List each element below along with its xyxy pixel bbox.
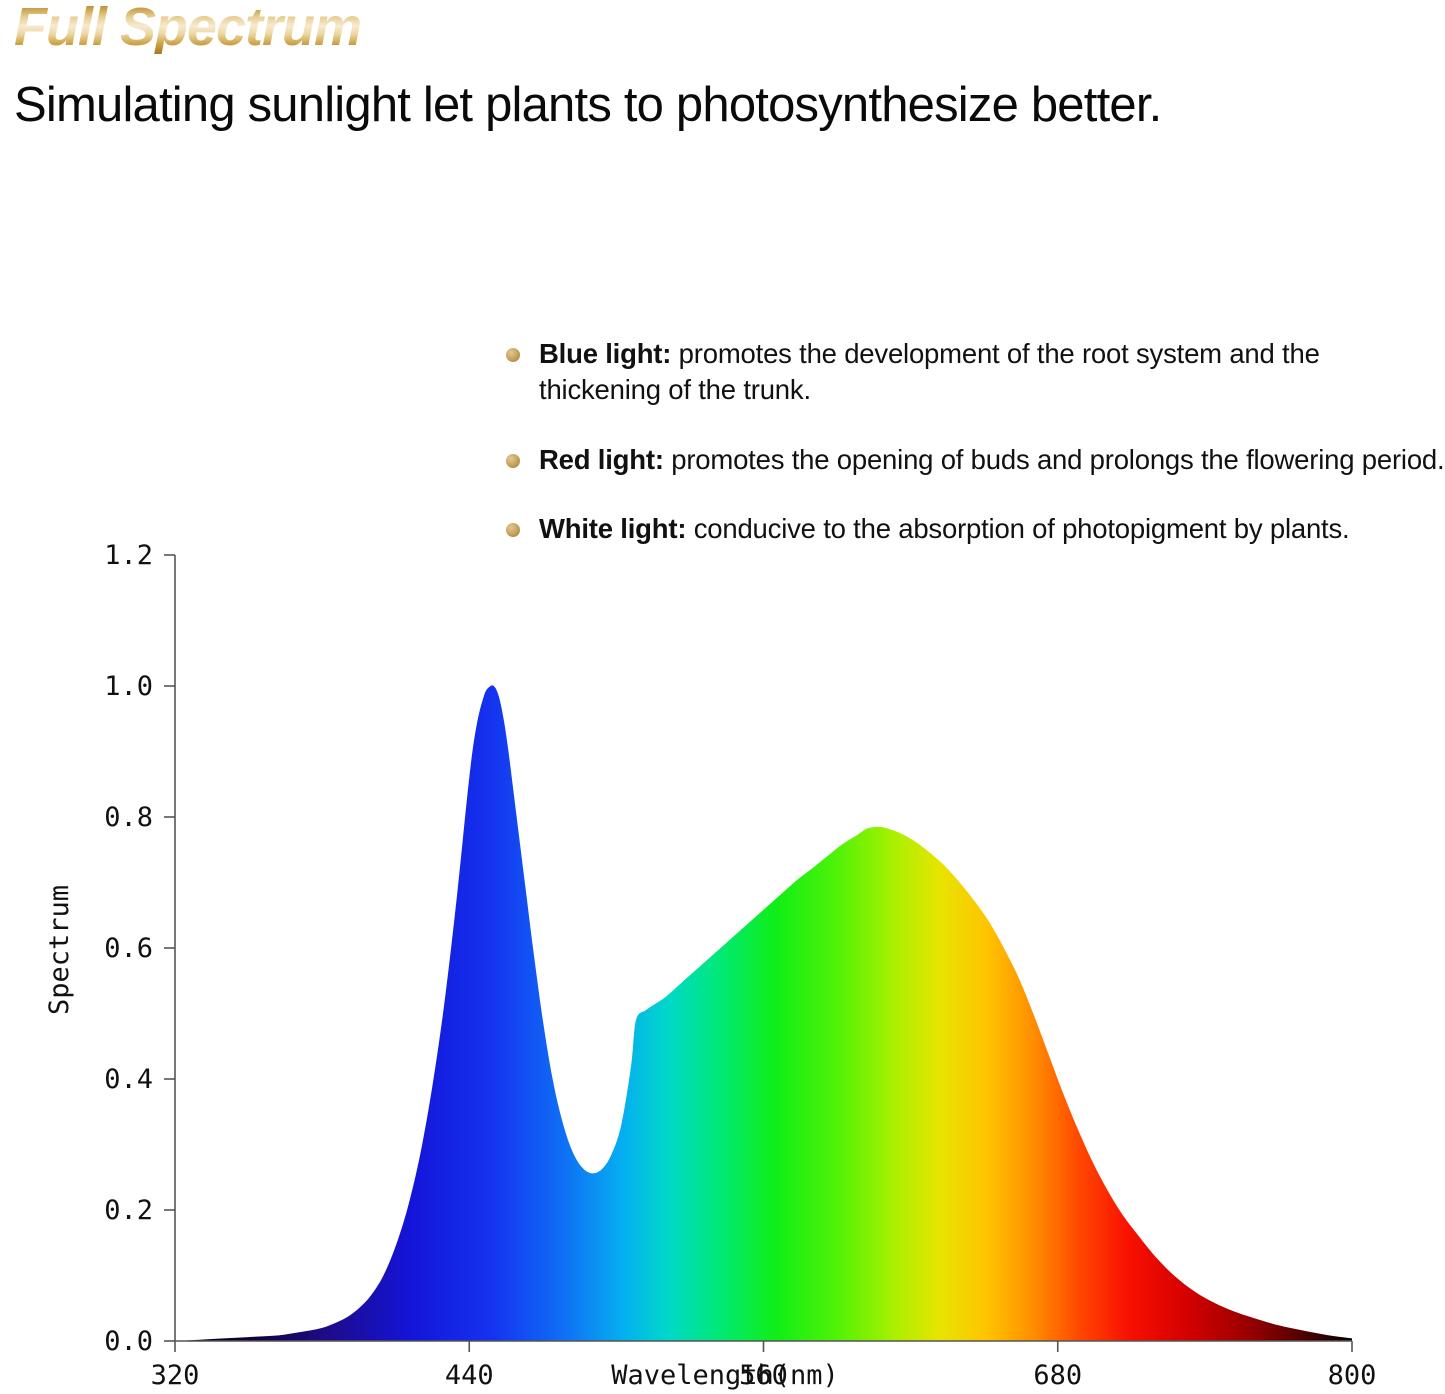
x-tick-label: 320: [151, 1360, 200, 1391]
spectrum-area-path: [175, 685, 1352, 1341]
spectrum-chart: 0.00.20.40.60.81.01.2 320440560680800 Wa…: [0, 0, 1445, 1394]
y-tick-label: 1.0: [104, 671, 153, 702]
y-tick-label: 0.8: [104, 802, 153, 833]
x-axis-label: Wavelength(nm): [611, 1360, 839, 1391]
x-tick-label: 440: [445, 1360, 494, 1391]
y-axis-label: Spectrum: [44, 885, 75, 1015]
y-tick-label: 1.2: [104, 540, 153, 571]
y-tick-label: 0.0: [104, 1326, 153, 1357]
y-axis-ticks: 0.00.20.40.60.81.01.2: [104, 540, 175, 1357]
y-tick-label: 0.4: [104, 1064, 153, 1095]
y-tick-label: 0.2: [104, 1195, 153, 1226]
x-tick-label: 680: [1033, 1360, 1082, 1391]
x-tick-label: 800: [1328, 1360, 1377, 1391]
y-tick-label: 0.6: [104, 933, 153, 964]
